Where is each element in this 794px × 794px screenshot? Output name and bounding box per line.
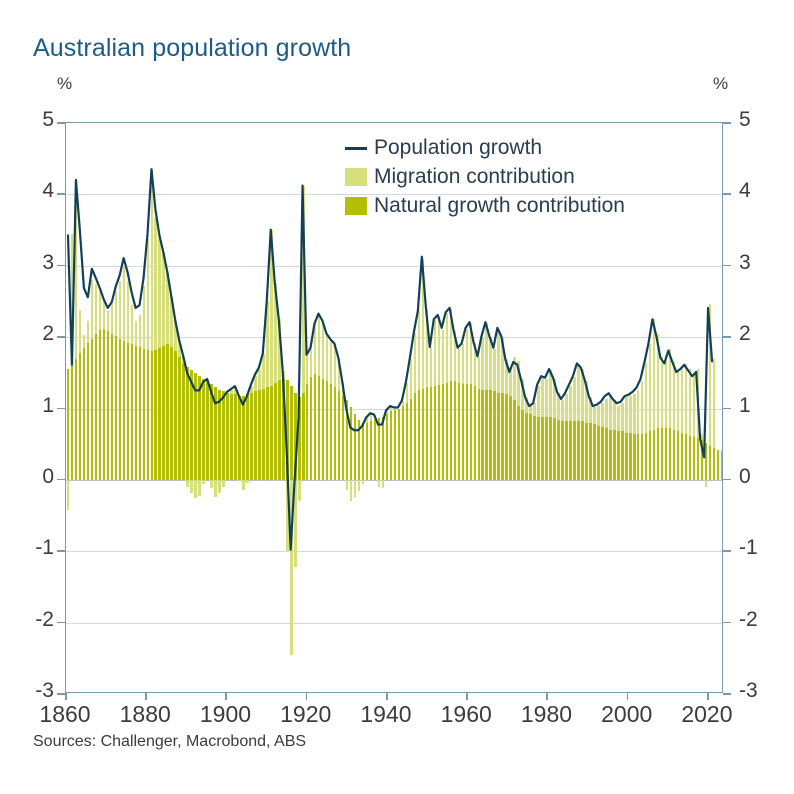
legend-label: Population growth bbox=[374, 136, 542, 160]
x-axis-tick-mark bbox=[466, 693, 468, 700]
legend-item-migration-contribution[interactable]: Migration contribution bbox=[345, 162, 625, 191]
y-axis-tick-label-left: -2 bbox=[14, 608, 54, 632]
y-axis-tick-label-right: 1 bbox=[739, 394, 781, 418]
y-axis-tick-mark-left bbox=[57, 479, 65, 481]
x-axis-tick-label: 1880 bbox=[105, 701, 185, 728]
x-axis-tick-mark bbox=[145, 693, 147, 700]
y-axis-tick-label-right: 2 bbox=[739, 322, 781, 346]
x-axis-tick-label: 1980 bbox=[506, 701, 586, 728]
y-axis-tick-mark-left bbox=[57, 122, 65, 124]
y-axis-tick-mark-left bbox=[57, 622, 65, 624]
y-axis-tick-label-right: 5 bbox=[739, 108, 781, 132]
y-axis-tick-mark-right bbox=[723, 408, 731, 410]
y-axis-tick-mark-left bbox=[57, 693, 65, 695]
legend-swatch-natural bbox=[345, 197, 367, 215]
legend-label: Natural growth contribution bbox=[374, 194, 625, 218]
y-axis-tick-label-left: 4 bbox=[14, 179, 54, 203]
y-axis-tick-label-left: 0 bbox=[14, 465, 54, 489]
legend-label: Migration contribution bbox=[374, 165, 575, 189]
x-axis-tick-label: 1920 bbox=[266, 701, 346, 728]
x-axis-tick-mark bbox=[386, 693, 388, 700]
y-axis-tick-mark-left bbox=[57, 265, 65, 267]
x-axis-tick-mark bbox=[225, 693, 227, 700]
x-axis-tick-label: 1940 bbox=[346, 701, 426, 728]
y-axis-tick-label-left: 5 bbox=[14, 108, 54, 132]
y-axis-tick-mark-right bbox=[723, 550, 731, 552]
y-axis-tick-mark-left bbox=[57, 336, 65, 338]
y-axis-tick-label-left: -1 bbox=[14, 536, 54, 560]
y-axis-tick-mark-right bbox=[723, 122, 731, 124]
y-axis-tick-mark-right bbox=[723, 193, 731, 195]
y-axis-tick-mark-left bbox=[57, 408, 65, 410]
y-axis-tick-mark-right bbox=[723, 622, 731, 624]
x-axis-tick-mark bbox=[546, 693, 548, 700]
x-axis-tick-mark bbox=[306, 693, 308, 700]
y-axis-tick-mark-left bbox=[57, 193, 65, 195]
legend-line-icon bbox=[345, 139, 367, 157]
y-axis-tick-mark-right bbox=[723, 336, 731, 338]
chart-page: Australian population growth % % 543210-… bbox=[0, 0, 794, 794]
y-axis-tick-label-left: 2 bbox=[14, 322, 54, 346]
y-axis-tick-label-right: 4 bbox=[739, 179, 781, 203]
y-axis-tick-label-left: 3 bbox=[14, 251, 54, 275]
y-axis-unit-right: % bbox=[713, 74, 728, 94]
y-axis-tick-mark-left bbox=[57, 550, 65, 552]
y-axis-tick-label-left: -3 bbox=[14, 679, 54, 703]
y-axis-tick-mark-right bbox=[723, 693, 731, 695]
legend-item-natural-growth-contribution[interactable]: Natural growth contribution bbox=[345, 191, 625, 220]
legend-item-population-growth[interactable]: Population growth bbox=[345, 133, 625, 162]
page-title: Australian population growth bbox=[33, 34, 351, 63]
y-axis-tick-label-right: 3 bbox=[739, 251, 781, 275]
x-axis-tick-mark bbox=[65, 693, 67, 700]
y-axis-tick-label-right: -3 bbox=[739, 679, 781, 703]
y-axis-tick-label-right: -2 bbox=[739, 608, 781, 632]
x-axis-tick-label: 2020 bbox=[667, 701, 747, 728]
y-axis-unit-left: % bbox=[57, 74, 72, 94]
x-axis-tick-mark bbox=[707, 693, 709, 700]
x-axis-tick-label: 1860 bbox=[25, 701, 105, 728]
y-axis-tick-mark-right bbox=[723, 265, 731, 267]
legend: Population growth Migration contribution… bbox=[345, 133, 625, 220]
x-axis-tick-label: 1960 bbox=[426, 701, 506, 728]
y-axis-tick-label-right: -1 bbox=[739, 536, 781, 560]
x-axis-tick-label: 1900 bbox=[185, 701, 265, 728]
y-axis-tick-label-left: 1 bbox=[14, 394, 54, 418]
sources-note: Sources: Challenger, Macrobond, ABS bbox=[33, 733, 306, 751]
y-axis-tick-label-right: 0 bbox=[739, 465, 781, 489]
legend-swatch-migration bbox=[345, 168, 367, 186]
x-axis-tick-label: 2000 bbox=[587, 701, 667, 728]
x-axis-tick-mark bbox=[627, 693, 629, 700]
y-axis-tick-mark-right bbox=[723, 479, 731, 481]
